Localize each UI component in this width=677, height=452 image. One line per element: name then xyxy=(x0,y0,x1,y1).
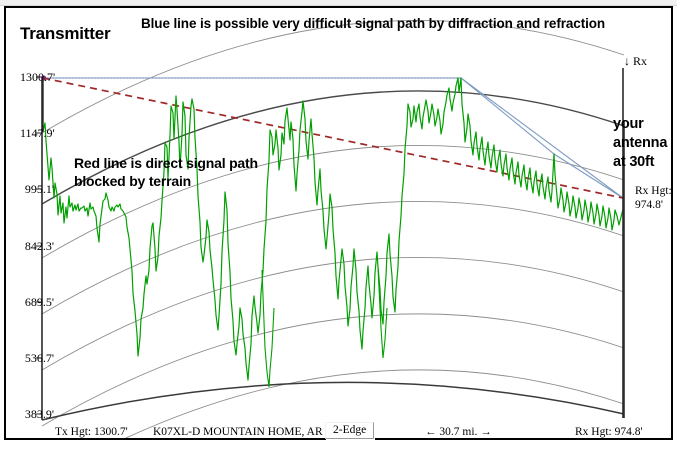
tx-height-label: Tx Hgt: 1300.7' xyxy=(55,426,128,438)
red-line-annotation: Red line is direct signal path blocked b… xyxy=(74,154,258,190)
y-tick-label-4: 689.5' xyxy=(20,295,54,310)
chart-frame: 1300.7' 1147.9' 995.1' 842.3' 689.5' 536… xyxy=(4,6,673,440)
y-tick-label-2: 995.1' xyxy=(20,182,54,197)
blue-line-caption: Blue line is possible very difficult sig… xyxy=(141,16,605,31)
rx-height-annotation-line1: Rx Hgt: xyxy=(635,184,672,198)
terrain-deep-spikes xyxy=(262,268,387,387)
rx-arrow-label: ↓ Rx xyxy=(624,54,647,69)
y-tick-label-0: 1300.7' xyxy=(20,70,54,85)
your-antenna-line2: antenna xyxy=(613,134,667,153)
your-antenna-line1: your xyxy=(613,115,667,134)
path-distance-label: ← 30.7 mi. → xyxy=(425,426,492,438)
terrain-profile-plot xyxy=(6,8,671,438)
y-tick-label-6: 383.9' xyxy=(20,407,54,422)
site-callsign-label: K07XL-D MOUNTAIN HOME, AR xyxy=(153,426,323,438)
terrain-profile-screenshot: 1300.7' 1147.9' 995.1' 842.3' 689.5' 536… xyxy=(0,0,677,444)
y-tick-label-3: 842.3' xyxy=(20,239,54,254)
edge-mode-button[interactable]: 2-Edge xyxy=(325,422,374,439)
your-antenna-line3: at 30ft xyxy=(613,153,667,172)
y-tick-label-1: 1147.9' xyxy=(20,126,54,141)
rx-height-label: Rx Hgt: 974.8' xyxy=(575,426,643,438)
rx-height-annotation: Rx Hgt: 974.8' xyxy=(635,184,672,212)
y-axis-labels: 1300.7' 1147.9' 995.1' 842.3' 689.5' 536… xyxy=(6,8,54,452)
red-line-annotation-line2: blocked by terrain xyxy=(74,172,258,190)
your-antenna-annotation: your antenna at 30ft xyxy=(613,115,667,172)
axis-lines xyxy=(42,77,624,420)
terrain-profile-line xyxy=(43,78,623,380)
red-line-annotation-line1: Red line is direct signal path xyxy=(74,154,258,172)
rx-height-annotation-line2: 974.8' xyxy=(635,198,672,212)
transmitter-title: Transmitter xyxy=(20,24,110,44)
y-tick-label-5: 536.7' xyxy=(20,351,54,366)
